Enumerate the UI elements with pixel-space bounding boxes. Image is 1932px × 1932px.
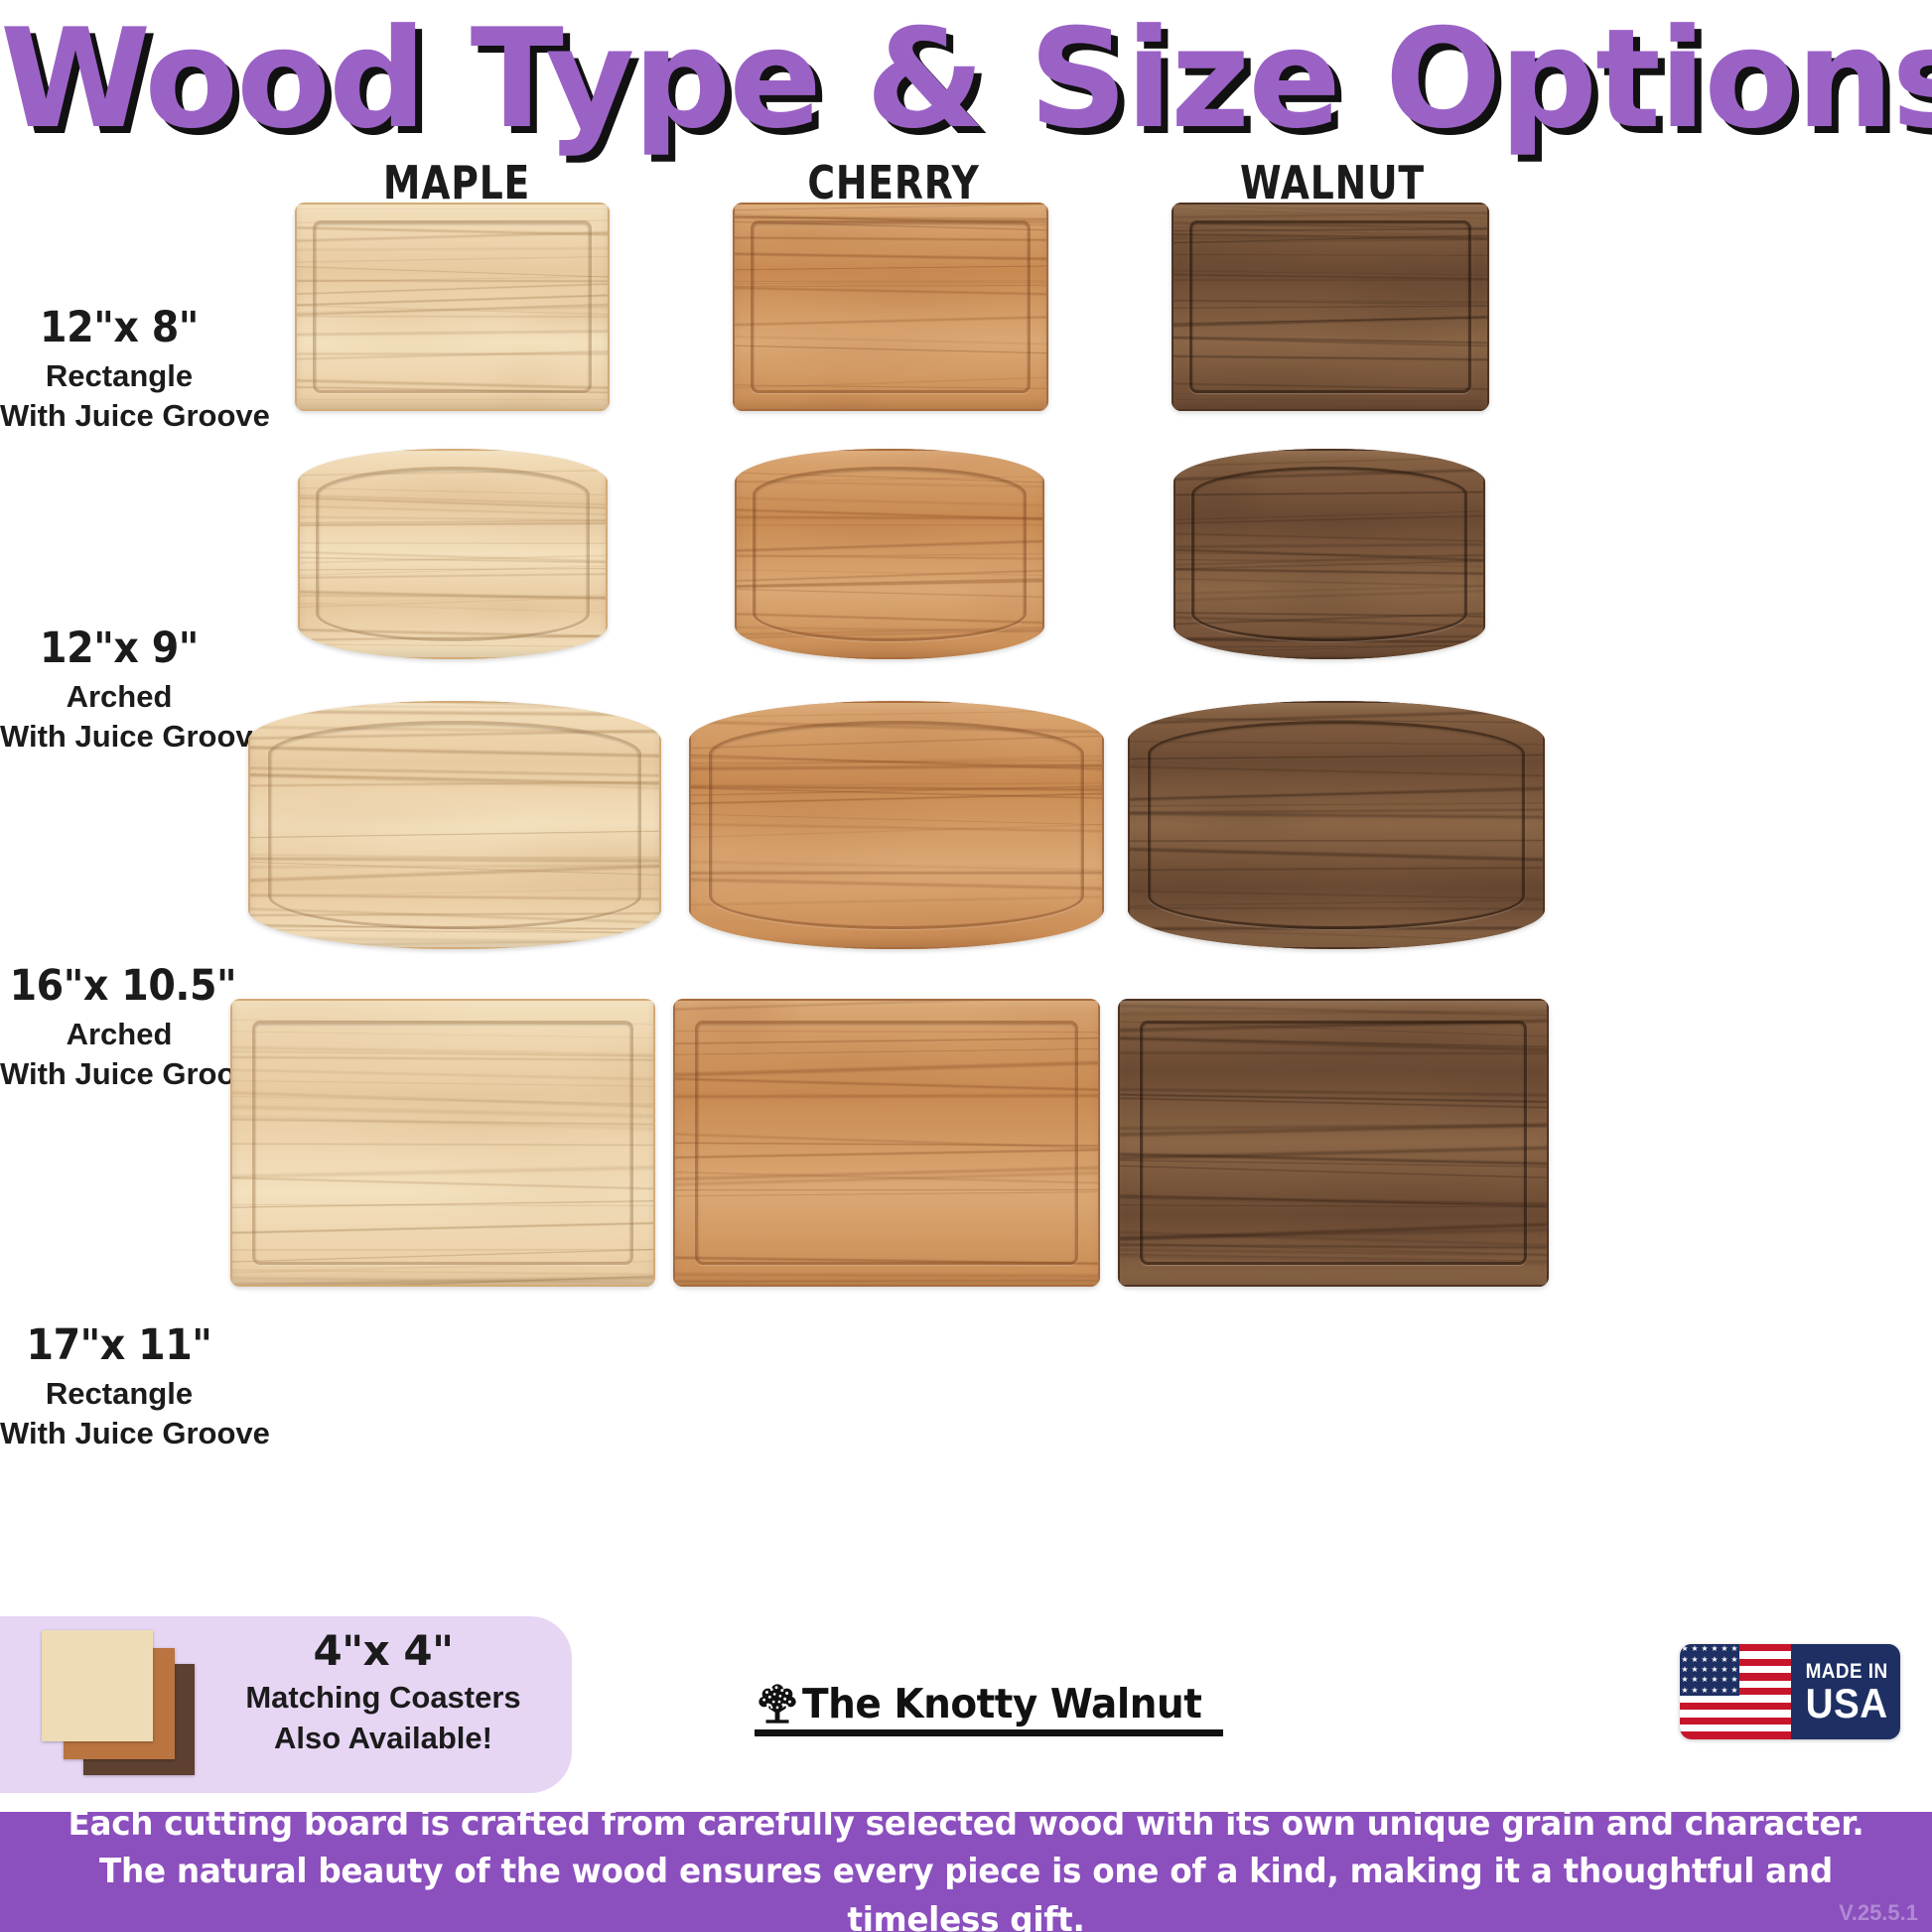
flag-star: ★ [1691, 1666, 1698, 1674]
flag-star: ★ [1711, 1687, 1718, 1695]
cutting-board-cherry-17x11[interactable] [673, 999, 1100, 1287]
flag-star: ★ [1721, 1676, 1727, 1684]
flag-star: ★ [1721, 1645, 1727, 1653]
wood-grain [248, 701, 661, 949]
flag-star: ★ [1701, 1645, 1708, 1653]
flag-star: ★ [1730, 1687, 1737, 1695]
row-groove-note: With Juice Groove [0, 1056, 238, 1092]
coaster-line2: Also Available! [214, 1721, 552, 1756]
row-label-17x11: 17"x 11" Rectangle With Juice Groove [0, 1320, 238, 1451]
cutting-board-walnut-17x11[interactable] [1118, 999, 1549, 1287]
cutting-board-walnut-12x9[interactable] [1173, 449, 1485, 659]
page-title: Wood Type & Size Options [0, 8, 1932, 152]
flag-star: ★ [1681, 1645, 1688, 1653]
flag-star: ★ [1691, 1687, 1698, 1695]
row-groove-note: With Juice Groove [0, 1416, 238, 1451]
brand-name: The Knotty Walnut [802, 1680, 1201, 1727]
usa-label: USA [1806, 1684, 1888, 1724]
flag-star: ★ [1701, 1656, 1708, 1664]
row-label-12x9: 12"x 9" Arched With Juice Groove [0, 623, 238, 755]
wood-grain [689, 701, 1104, 949]
flag-star: ★ [1701, 1676, 1708, 1684]
row-shape: Rectangle [0, 1376, 238, 1412]
wood-grain [298, 449, 608, 659]
flag-star: ★ [1711, 1656, 1718, 1664]
wood-grain [1172, 203, 1489, 411]
row-shape: Arched [0, 1017, 238, 1052]
tree-icon [755, 1681, 800, 1726]
wood-grain [1118, 999, 1549, 1287]
column-header-maple: MAPLE [327, 156, 587, 209]
flag-star: ★ [1681, 1687, 1688, 1695]
flag-star: ★ [1701, 1687, 1708, 1695]
row-groove-note: With Juice Groove [0, 398, 238, 434]
cutting-board-maple-12x8[interactable] [295, 203, 610, 411]
flag-stripe [1680, 1718, 1791, 1725]
row-size: 12"x 8" [10, 303, 229, 352]
flag-star: ★ [1721, 1687, 1727, 1695]
brand-logo: The Knotty Walnut [755, 1680, 1223, 1736]
row-label-12x8: 12"x 8" Rectangle With Juice Groove [0, 303, 238, 434]
wood-grain [1128, 701, 1545, 949]
footer-banner: Each cutting board is crafted from caref… [0, 1812, 1932, 1932]
usa-flag-icon: ★★★★★★★★★★★★★★★★★★★★★★★★★★★★★★ [1680, 1644, 1791, 1739]
flag-star: ★ [1711, 1645, 1718, 1653]
flag-stripe [1680, 1703, 1791, 1710]
made-in-usa-badge: ★★★★★★★★★★★★★★★★★★★★★★★★★★★★★★ MADE IN U… [1680, 1644, 1900, 1739]
version-watermark: V.25.5.1 [1839, 1900, 1918, 1926]
cutting-board-maple-17x11[interactable] [230, 999, 655, 1287]
cutting-board-maple-12x9[interactable] [298, 449, 608, 659]
wood-grain [733, 203, 1048, 411]
coaster-text: 4"x 4" Matching Coasters Also Available! [214, 1626, 552, 1756]
row-label-16x105: 16"x 10.5" Arched With Juice Groove [0, 961, 238, 1092]
wood-grain [735, 449, 1044, 659]
flag-star: ★ [1730, 1645, 1737, 1653]
flag-star: ★ [1711, 1676, 1718, 1684]
flag-star: ★ [1681, 1676, 1688, 1684]
flag-star: ★ [1711, 1666, 1718, 1674]
flag-star: ★ [1721, 1666, 1727, 1674]
flag-star: ★ [1730, 1656, 1737, 1664]
infographic-page: Wood Type & Size Options MAPLE CHERRY WA… [0, 0, 1932, 1932]
row-size: 12"x 9" [10, 623, 229, 673]
cutting-board-cherry-16x10.5[interactable] [689, 701, 1104, 949]
flag-star: ★ [1691, 1656, 1698, 1664]
usa-text-block: MADE IN USA [1791, 1644, 1900, 1739]
flag-star: ★ [1730, 1666, 1737, 1674]
flag-star: ★ [1681, 1666, 1688, 1674]
flag-stripe [1680, 1731, 1791, 1738]
coaster-badge: 4"x 4" Matching Coasters Also Available! [0, 1616, 572, 1793]
coaster-maple [42, 1630, 153, 1741]
footer-text: Each cutting board is crafted from caref… [47, 1800, 1886, 1932]
wood-grain [673, 999, 1100, 1287]
row-shape: Arched [0, 679, 238, 715]
row-size: 17"x 11" [10, 1320, 229, 1370]
coaster-line1: Matching Coasters [214, 1680, 552, 1716]
cutting-board-maple-16x10.5[interactable] [248, 701, 661, 949]
flag-star: ★ [1681, 1656, 1688, 1664]
flag-star: ★ [1691, 1676, 1698, 1684]
flag-star: ★ [1721, 1656, 1727, 1664]
flag-canton: ★★★★★★★★★★★★★★★★★★★★★★★★★★★★★★ [1680, 1644, 1739, 1696]
column-header-walnut: WALNUT [1202, 156, 1462, 209]
row-shape: Rectangle [0, 358, 238, 394]
flag-star: ★ [1730, 1676, 1737, 1684]
flag-star: ★ [1691, 1645, 1698, 1653]
column-header-cherry: CHERRY [763, 156, 1024, 209]
row-groove-note: With Juice Groove [0, 719, 238, 755]
cutting-board-cherry-12x9[interactable] [735, 449, 1044, 659]
wood-grain [295, 203, 610, 411]
cutting-board-cherry-12x8[interactable] [733, 203, 1048, 411]
row-size: 16"x 10.5" [10, 961, 229, 1011]
flag-star: ★ [1701, 1666, 1708, 1674]
coaster-size: 4"x 4" [214, 1626, 552, 1675]
wood-grain [230, 999, 655, 1287]
cutting-board-walnut-12x8[interactable] [1172, 203, 1489, 411]
cutting-board-walnut-16x10.5[interactable] [1128, 701, 1545, 949]
coaster-stack [36, 1630, 214, 1779]
wood-grain [1173, 449, 1485, 659]
